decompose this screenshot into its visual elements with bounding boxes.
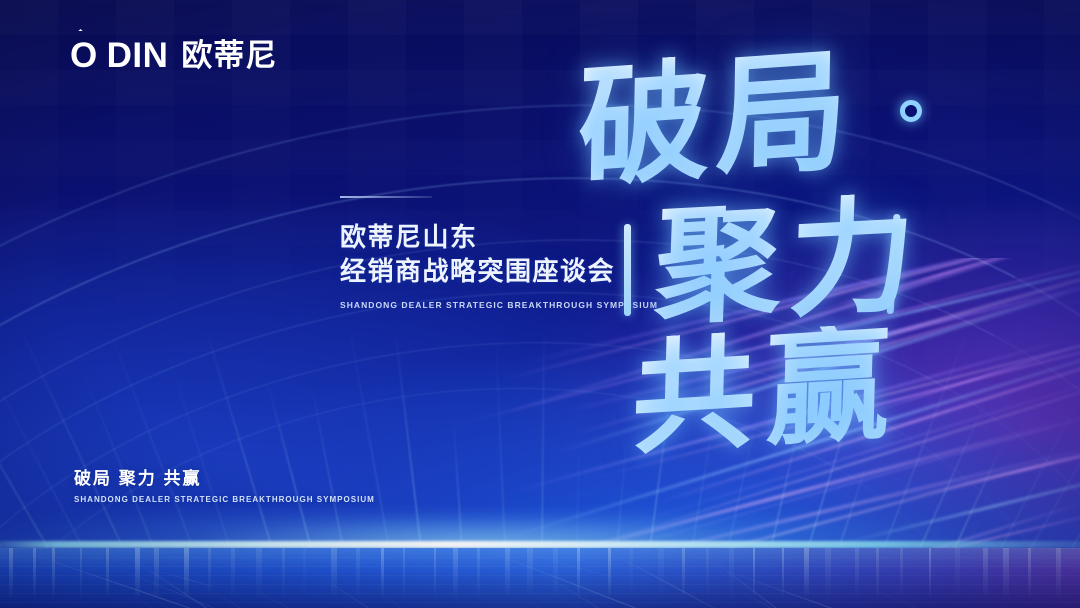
headline-word-gongying: 共赢 bbox=[631, 322, 902, 463]
logo-latin-text: DIN bbox=[107, 38, 169, 73]
headline-bar-left bbox=[624, 224, 631, 316]
footer-slogan-block: 破局 聚力 共赢 SHANDONG DEALER STRATEGIC BREAK… bbox=[74, 470, 375, 504]
hero-calligraphy: 破局 聚力 共赢 bbox=[560, 48, 1020, 468]
logo-mark-letter: O bbox=[70, 36, 98, 75]
logo-chinese-text: 欧蒂尼 bbox=[181, 40, 277, 71]
headline-word-pojU: 破局 bbox=[577, 44, 855, 196]
event-banner: O DIN 欧蒂尼 欧蒂尼山东 经销商战略突围座谈会 SHANDONG DEAL… bbox=[0, 0, 1080, 608]
odin-o-mark: O bbox=[70, 38, 98, 73]
headline-word-juli: 聚力 bbox=[653, 191, 925, 331]
footer-slogan-chinese: 破局 聚力 共赢 bbox=[74, 470, 375, 487]
footer-slogan-english: SHANDONG DEALER STRATEGIC BREAKTHROUGH S… bbox=[74, 495, 375, 504]
title-divider-rule bbox=[340, 196, 432, 198]
brand-logo[interactable]: O DIN 欧蒂尼 bbox=[70, 38, 277, 73]
degree-ring-icon bbox=[900, 100, 922, 122]
